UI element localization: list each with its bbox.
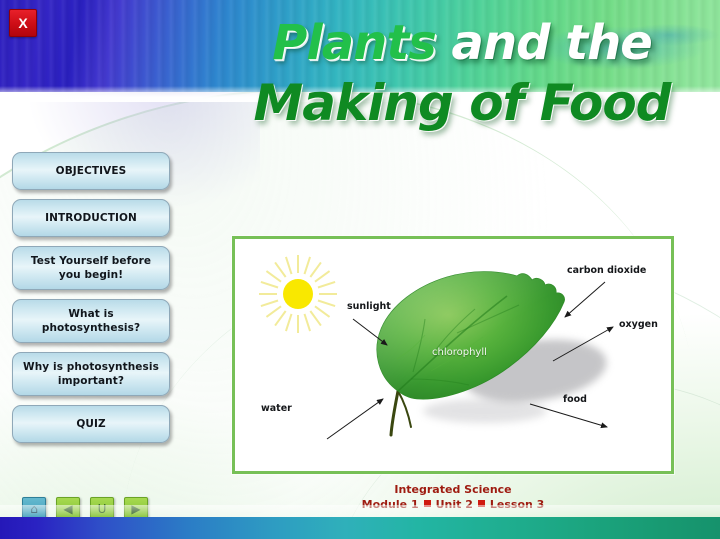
sidebar-item-label: Test Yourself before you begin! bbox=[13, 250, 169, 286]
photosynthesis-diagram: sunlight carbon dioxide oxygen water foo… bbox=[232, 236, 674, 474]
sidebar-item-why-photosynthesis-important[interactable]: Why is photosynthesis important? bbox=[12, 352, 170, 396]
label-oxygen: oxygen bbox=[619, 319, 658, 330]
sidebar-item-label: OBJECTIVES bbox=[48, 160, 135, 182]
sidebar-item-label: What is photosynthesis? bbox=[13, 303, 169, 339]
sidebar-item-quiz[interactable]: QUIZ bbox=[12, 405, 170, 443]
close-button[interactable]: X bbox=[9, 9, 37, 37]
sidebar-item-objectives[interactable]: OBJECTIVES bbox=[12, 152, 170, 190]
sidebar-menu: OBJECTIVES INTRODUCTION Test Yourself be… bbox=[12, 152, 172, 452]
lesson-slide: X Plants and the Making of Food OBJECTIV… bbox=[0, 0, 720, 539]
label-food: food bbox=[563, 394, 587, 405]
label-carbon-dioxide: carbon dioxide bbox=[567, 265, 646, 276]
title-line-2: Making of Food bbox=[222, 72, 702, 134]
title-words-and-the: and the bbox=[436, 15, 652, 71]
footer-banner bbox=[0, 517, 720, 539]
sidebar-item-label: INTRODUCTION bbox=[37, 207, 145, 229]
sidebar-item-introduction[interactable]: INTRODUCTION bbox=[12, 199, 170, 237]
diagram-canvas: sunlight carbon dioxide oxygen water foo… bbox=[235, 239, 671, 471]
caption-course: Integrated Science bbox=[232, 482, 674, 497]
title-line-1: Plants and the bbox=[222, 14, 702, 72]
title-word-plants: Plants bbox=[272, 15, 436, 71]
sidebar-item-what-is-photosynthesis[interactable]: What is photosynthesis? bbox=[12, 299, 170, 343]
label-water: water bbox=[261, 403, 292, 414]
sidebar-item-label: Why is photosynthesis important? bbox=[13, 356, 169, 392]
page-title: Plants and the Making of Food bbox=[222, 14, 702, 134]
sidebar-item-label: QUIZ bbox=[68, 413, 113, 435]
sidebar-item-test-yourself[interactable]: Test Yourself before you begin! bbox=[12, 246, 170, 290]
label-sunlight: sunlight bbox=[347, 301, 391, 312]
label-chlorophyll: chlorophyll bbox=[432, 347, 487, 358]
